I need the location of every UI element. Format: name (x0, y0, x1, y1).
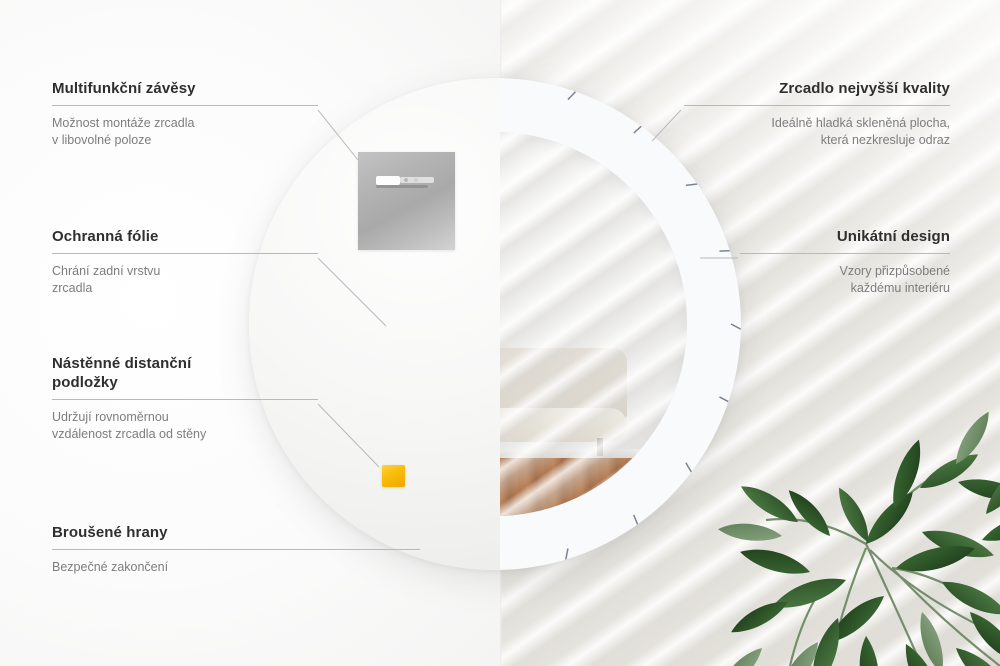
feature-body: Vzory přizpůsobené každému interiéru (740, 263, 950, 297)
feature-label-multifunkcni-zavesy: Multifunkční závěsy Možnost montáže zrca… (52, 79, 318, 149)
feature-body: Chrání zadní vrstvu zrcadla (52, 263, 318, 297)
feature-title: Broušené hrany (52, 523, 420, 542)
feature-title: Multifunkční závěsy (52, 79, 318, 98)
title-underline (684, 105, 950, 106)
feature-body: Ideálně hladká skleněná plocha, která ne… (684, 115, 950, 149)
feature-title: Zrcadlo nejvyšší kvality (684, 79, 950, 98)
feature-body: Udržují rovnoměrnou vzdálenost zrcadla o… (52, 409, 318, 443)
title-underline (52, 399, 318, 400)
feature-body: Možnost montáže zrcadla v libovolné polo… (52, 115, 318, 149)
title-underline (52, 253, 318, 254)
title-underline (52, 105, 318, 106)
feature-body: Bezpečné zakončení (52, 559, 420, 576)
feature-title: Unikátní design (740, 227, 950, 246)
feature-label-ochranna-folie: Ochranná fólie Chrání zadní vrstvu zrcad… (52, 227, 318, 297)
feature-title: Ochranná fólie (52, 227, 318, 246)
title-underline (740, 253, 950, 254)
feature-label-brousene-hrany: Broušené hrany Bezpečné zakončení (52, 523, 420, 576)
feature-title: Nástěnné distanční podložky (52, 354, 318, 392)
green-leaves-foliage (670, 336, 1000, 666)
infographic-canvas: Multifunkční závěsy Možnost montáže zrca… (0, 0, 1000, 666)
feature-label-unikatni-design: Unikátní design Vzory přizpůsobené každé… (740, 227, 950, 297)
feature-label-zrcadlo-nejvyssi-kvality: Zrcadlo nejvyšší kvality Ideálně hladká … (684, 79, 950, 149)
feature-label-nastenne-distancni-podlozky: Nástěnné distanční podložky Udržují rovn… (52, 354, 318, 443)
title-underline (52, 549, 420, 550)
